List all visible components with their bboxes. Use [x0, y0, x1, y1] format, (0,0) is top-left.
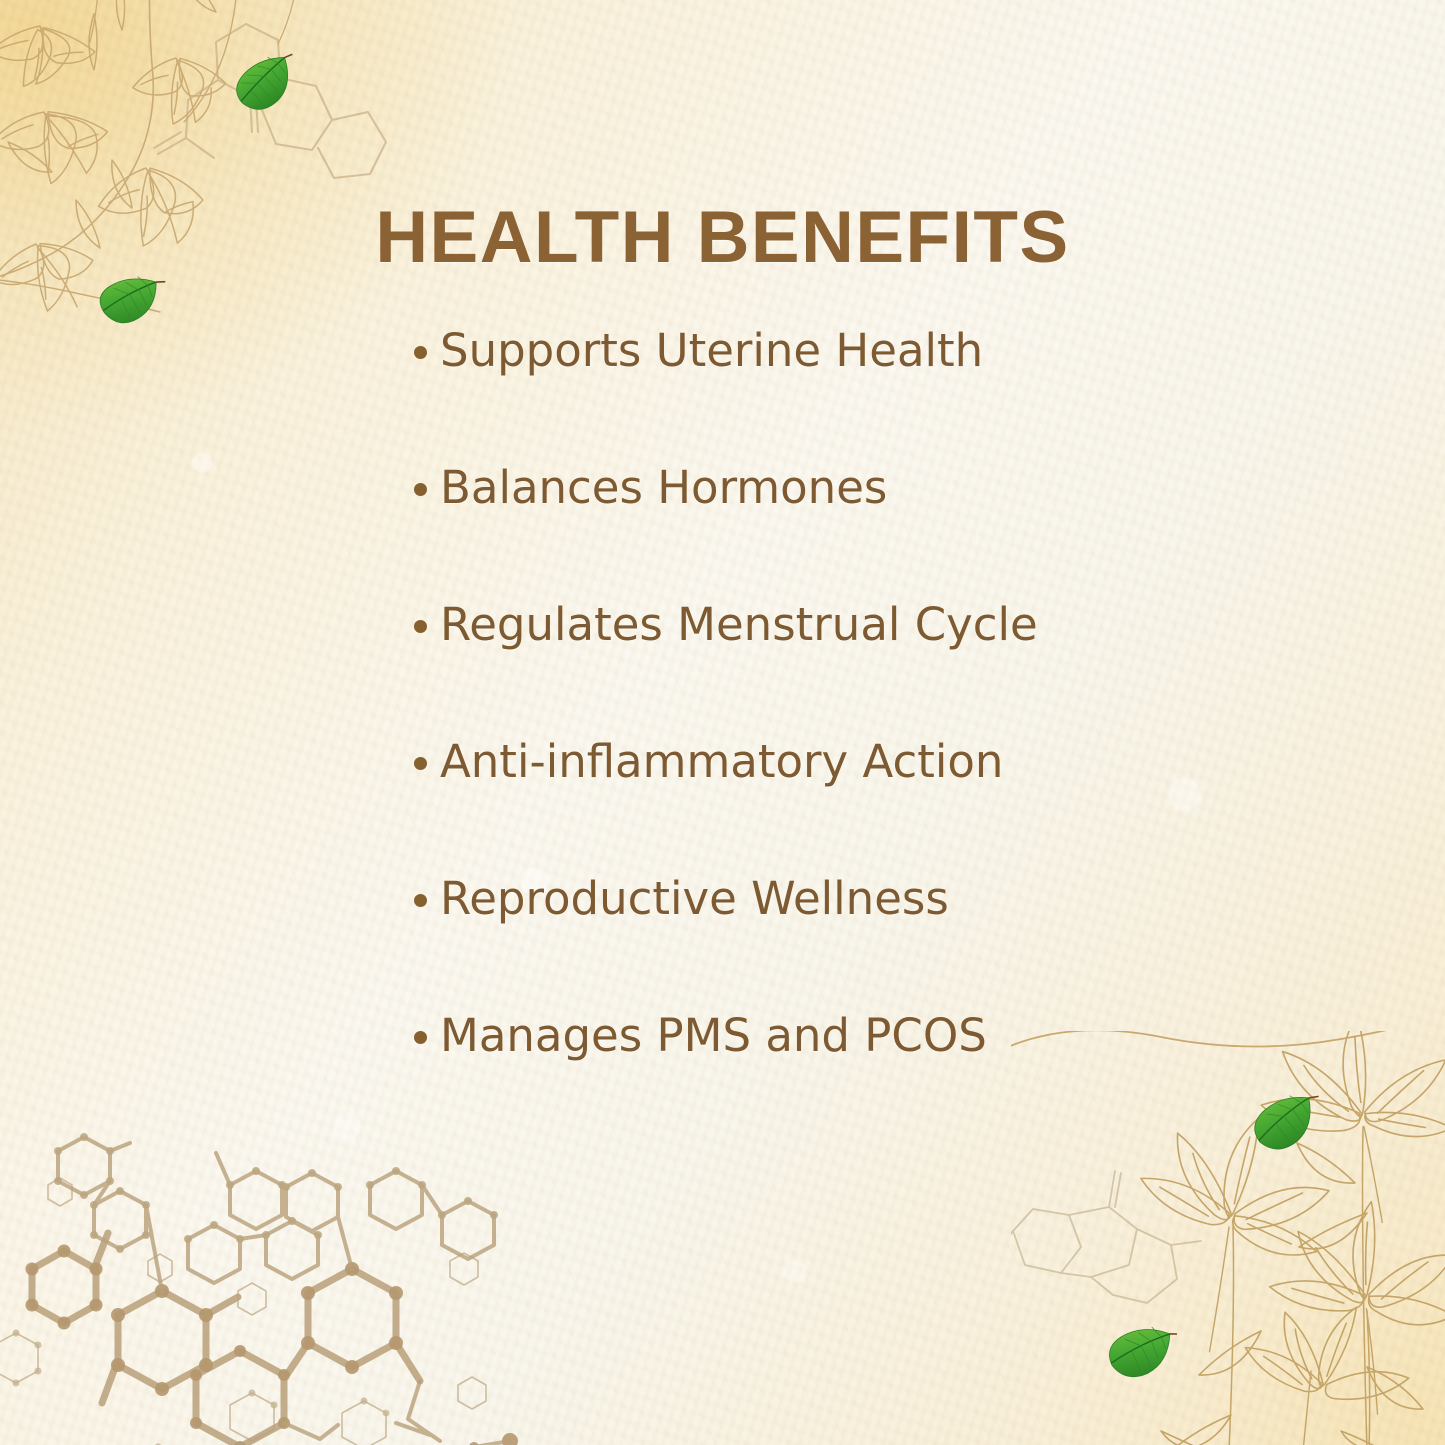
- page-title: HEALTH BENEFITS: [0, 196, 1445, 279]
- benefit-label: Supports Uterine Health: [440, 328, 983, 373]
- poster-content: HEALTH BENEFITS Supports Uterine Health …: [0, 0, 1445, 1445]
- list-item: Regulates Menstrual Cycle: [414, 590, 1314, 658]
- bullet-icon: [414, 483, 427, 496]
- list-item: Supports Uterine Health: [414, 316, 1314, 384]
- benefit-label: Regulates Menstrual Cycle: [440, 602, 1038, 647]
- bullet-icon: [414, 346, 427, 359]
- bullet-icon: [414, 894, 427, 907]
- benefits-list: Supports Uterine Health Balances Hormone…: [414, 316, 1314, 1069]
- benefit-label: Reproductive Wellness: [440, 876, 949, 921]
- benefit-label: Anti-inflammatory Action: [440, 739, 1003, 784]
- list-item: Balances Hormones: [414, 453, 1314, 521]
- benefit-label: Balances Hormones: [440, 465, 887, 510]
- bullet-icon: [414, 757, 427, 770]
- health-benefits-poster: HEALTH BENEFITS Supports Uterine Health …: [0, 0, 1445, 1445]
- list-item: Reproductive Wellness: [414, 864, 1314, 932]
- benefit-label: Manages PMS and PCOS: [440, 1013, 987, 1058]
- list-item: Anti-inflammatory Action: [414, 727, 1314, 795]
- bullet-icon: [414, 620, 427, 633]
- bullet-icon: [414, 1031, 427, 1044]
- list-item: Manages PMS and PCOS: [414, 1001, 1314, 1069]
